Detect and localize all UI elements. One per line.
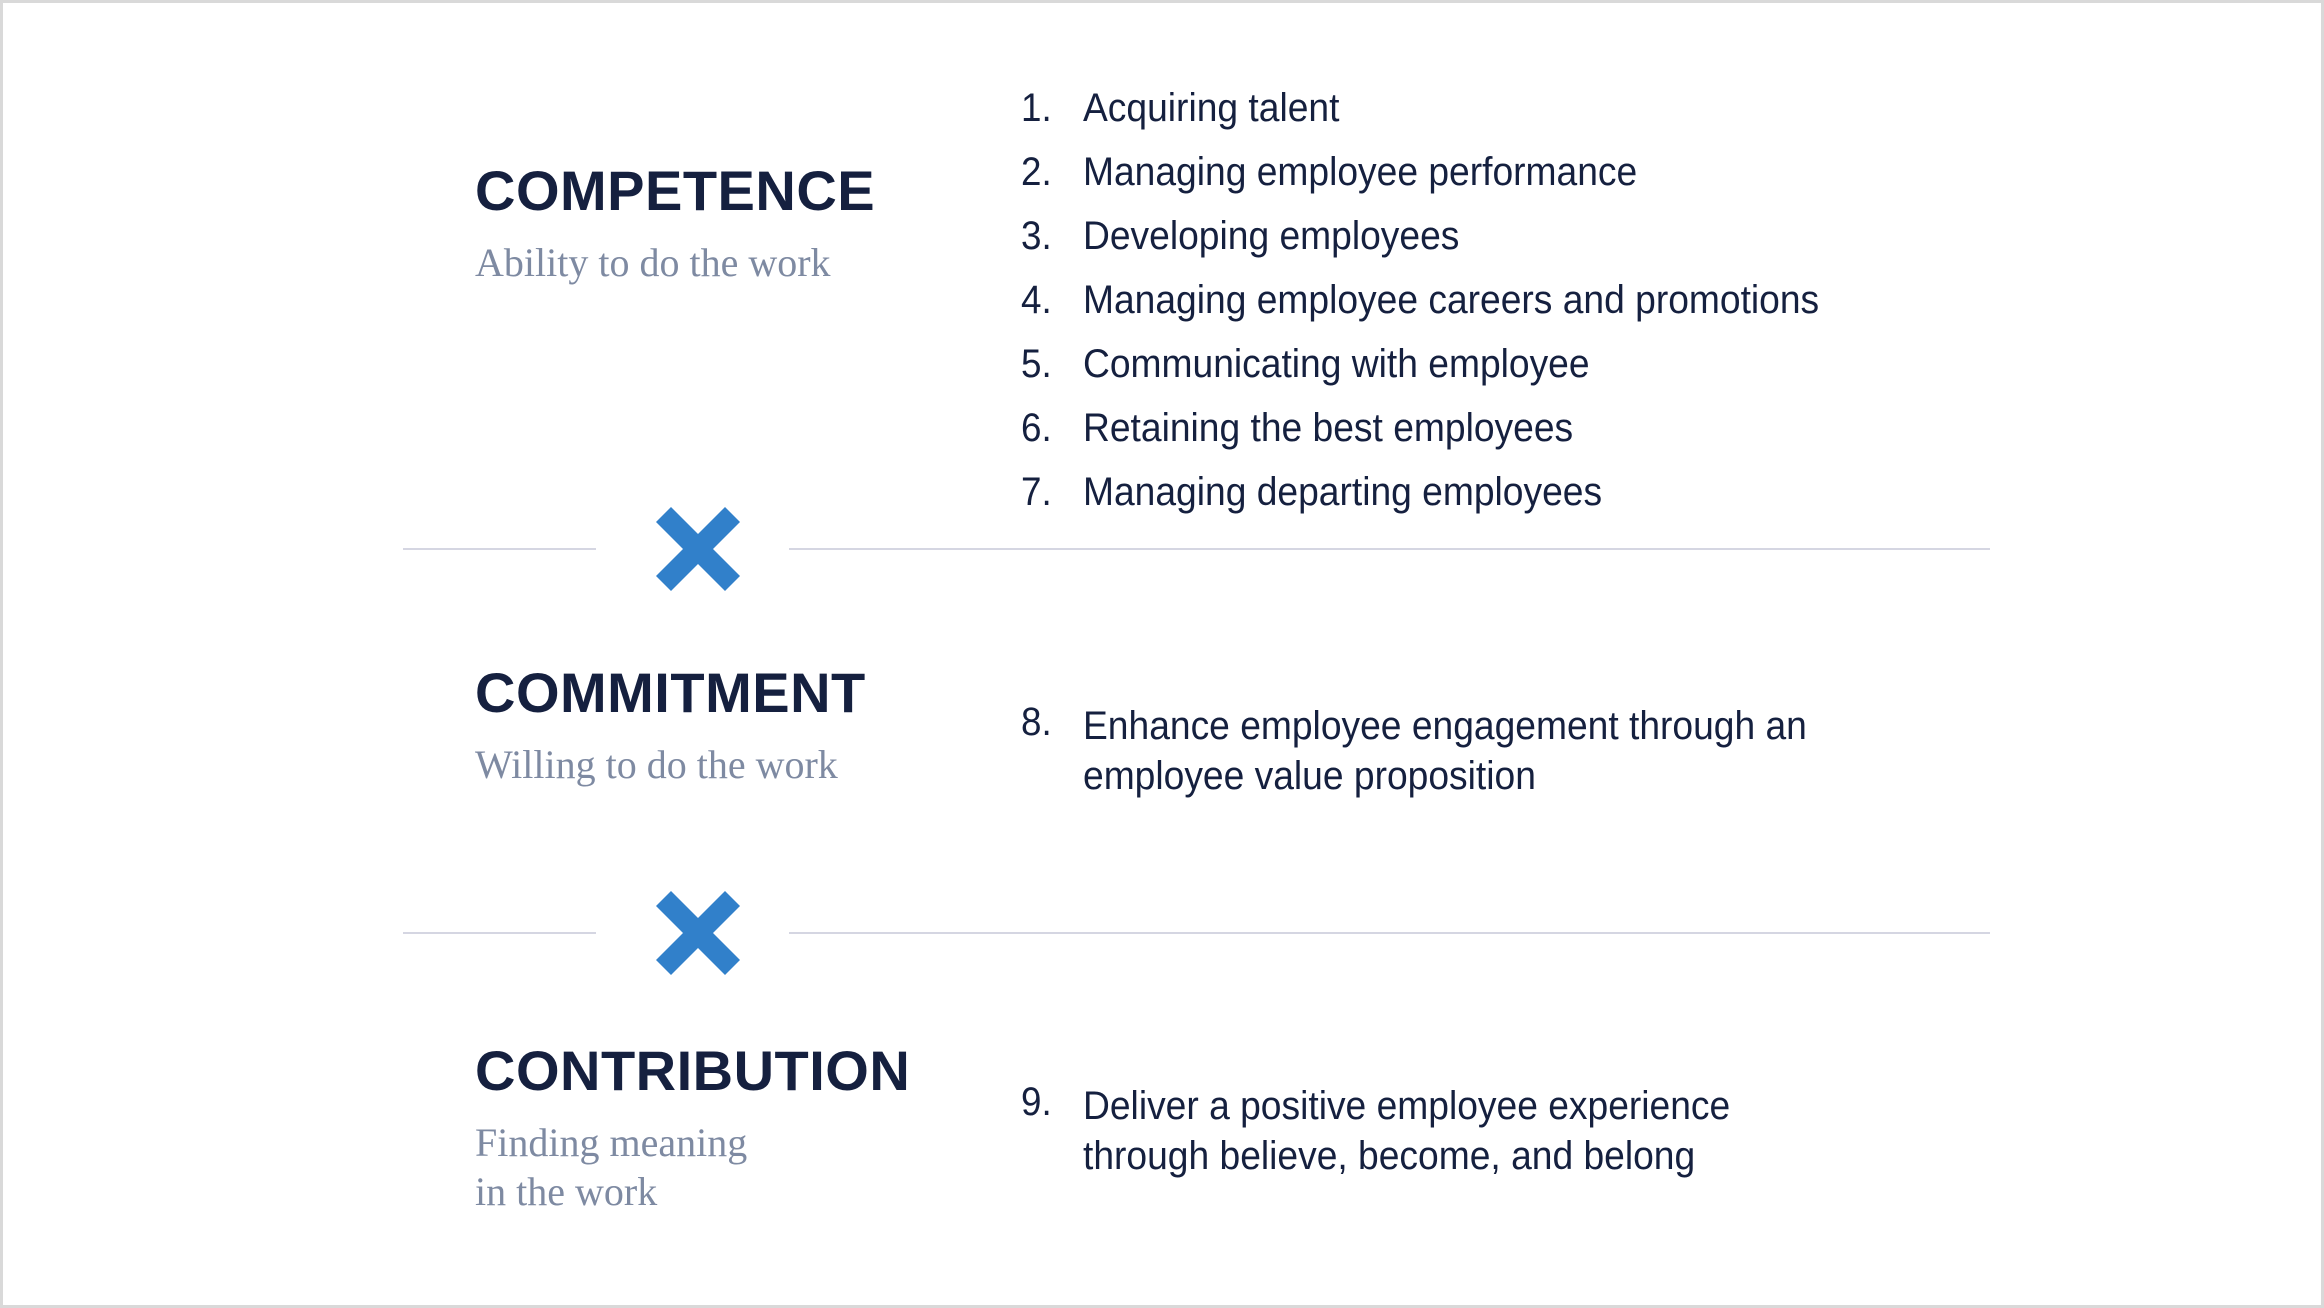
slide-canvas: COMPETENCE Ability to do the work 1. Acq… [0, 0, 2324, 1308]
list-item-text: Retaining the best employees [1083, 407, 2002, 450]
section-commitment: COMMITMENT Willing to do the work 8. Enh… [3, 603, 2324, 883]
divider-rule-right [789, 548, 1990, 550]
list-item-text: Managing employee performance [1083, 151, 2002, 194]
list-item-number: 6. [1021, 407, 1078, 450]
list-item-number: 3. [1021, 215, 1078, 258]
list-item-text: Acquiring talent [1083, 87, 2002, 130]
list-item: 8. Enhance employee engagement through a… [1021, 701, 1901, 801]
list-item-number: 4. [1021, 279, 1078, 322]
list-item: 2. Managing employee performance [1021, 151, 2071, 194]
contribution-item-list: 9. Deliver a positive employee experienc… [1021, 1081, 1901, 1181]
divider-rule-left [403, 932, 596, 934]
list-item-number: 5. [1021, 343, 1078, 386]
pillar-subtitle-contribution: Finding meaning in the work [475, 1119, 955, 1217]
section-competence: COMPETENCE Ability to do the work 1. Acq… [3, 3, 2324, 503]
divider-rule-right [789, 932, 1990, 934]
contribution-heading-block: CONTRIBUTION Finding meaning in the work [475, 1043, 955, 1217]
list-item-text: Communicating with employee [1083, 343, 2002, 386]
list-item-number: 1. [1021, 87, 1078, 130]
divider-1 [3, 499, 2324, 599]
list-item: 4. Managing employee careers and promoti… [1021, 279, 2071, 322]
divider-rule-left [403, 548, 596, 550]
list-item: 1. Acquiring talent [1021, 87, 2071, 130]
list-item: 5. Communicating with employee [1021, 343, 2071, 386]
list-item: 9. Deliver a positive employee experienc… [1021, 1081, 1901, 1181]
competence-heading-block: COMPETENCE Ability to do the work [475, 163, 955, 288]
list-item-number: 8. [1021, 701, 1078, 744]
multiply-icon [656, 507, 740, 591]
pillar-subtitle-competence: Ability to do the work [475, 239, 955, 288]
pillar-title-contribution: CONTRIBUTION [475, 1043, 955, 1099]
pillar-subtitle-commitment: Willing to do the work [475, 741, 955, 790]
list-item-number: 2. [1021, 151, 1078, 194]
pillar-title-competence: COMPETENCE [475, 163, 955, 219]
competence-item-list: 1. Acquiring talent 2. Managing employee… [1021, 87, 2071, 514]
pillar-title-commitment: COMMITMENT [475, 665, 955, 721]
list-item-number: 9. [1021, 1081, 1078, 1124]
list-item-text: Developing employees [1083, 215, 2002, 258]
list-item: 6. Retaining the best employees [1021, 407, 2071, 450]
list-item-text: Enhance employee engagement through an e… [1083, 701, 1844, 801]
commitment-item-list: 8. Enhance employee engagement through a… [1021, 701, 1901, 801]
list-item-text: Deliver a positive employee experience t… [1083, 1081, 1844, 1181]
section-contribution: CONTRIBUTION Finding meaning in the work… [3, 1003, 2324, 1303]
divider-2 [3, 883, 2324, 983]
commitment-heading-block: COMMITMENT Willing to do the work [475, 665, 955, 790]
list-item: 3. Developing employees [1021, 215, 2071, 258]
list-item-text: Managing employee careers and promotions [1083, 279, 2002, 322]
multiply-icon [656, 891, 740, 975]
